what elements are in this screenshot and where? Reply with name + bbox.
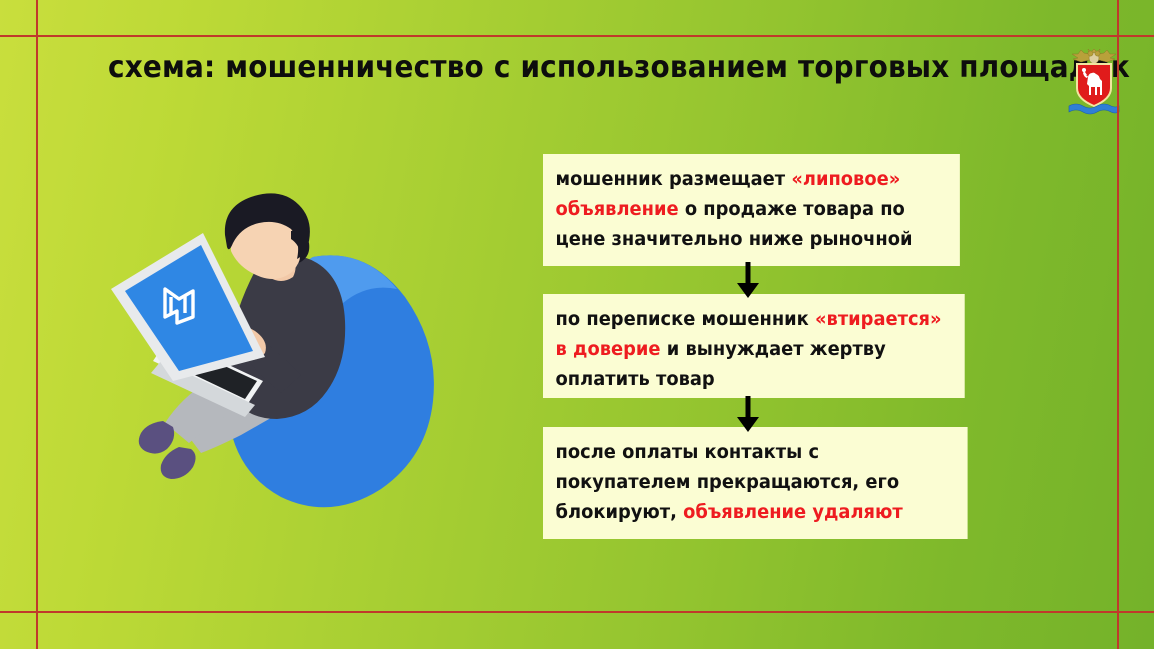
person-with-laptop-illustration xyxy=(105,185,455,525)
guide-line-bottom xyxy=(0,611,1154,613)
flow-step-1: мошенник размещает «липовое» объявление … xyxy=(543,154,960,266)
page-title: схема: мошенничество с использованием то… xyxy=(108,51,1001,84)
coat-of-arms-icon xyxy=(1066,45,1122,121)
guide-line-top xyxy=(0,35,1154,37)
flow-step-2-text-a: по переписке мошенник xyxy=(556,309,815,330)
arrow-down-icon-1 xyxy=(731,262,765,298)
arrow-down-icon-2 xyxy=(731,396,765,432)
guide-line-left xyxy=(36,0,38,649)
flow-step-1-text-a: мошенник размещает xyxy=(556,169,792,190)
slide-canvas: схема: мошенничество с использованием то… xyxy=(0,0,1154,649)
flow-step-3-highlight: объявление удаляют xyxy=(683,502,903,523)
flow-step-2: по переписке мошенник «втирается» в дове… xyxy=(543,294,965,398)
flow-step-3: после оплаты контакты с покупателем прек… xyxy=(543,427,968,539)
